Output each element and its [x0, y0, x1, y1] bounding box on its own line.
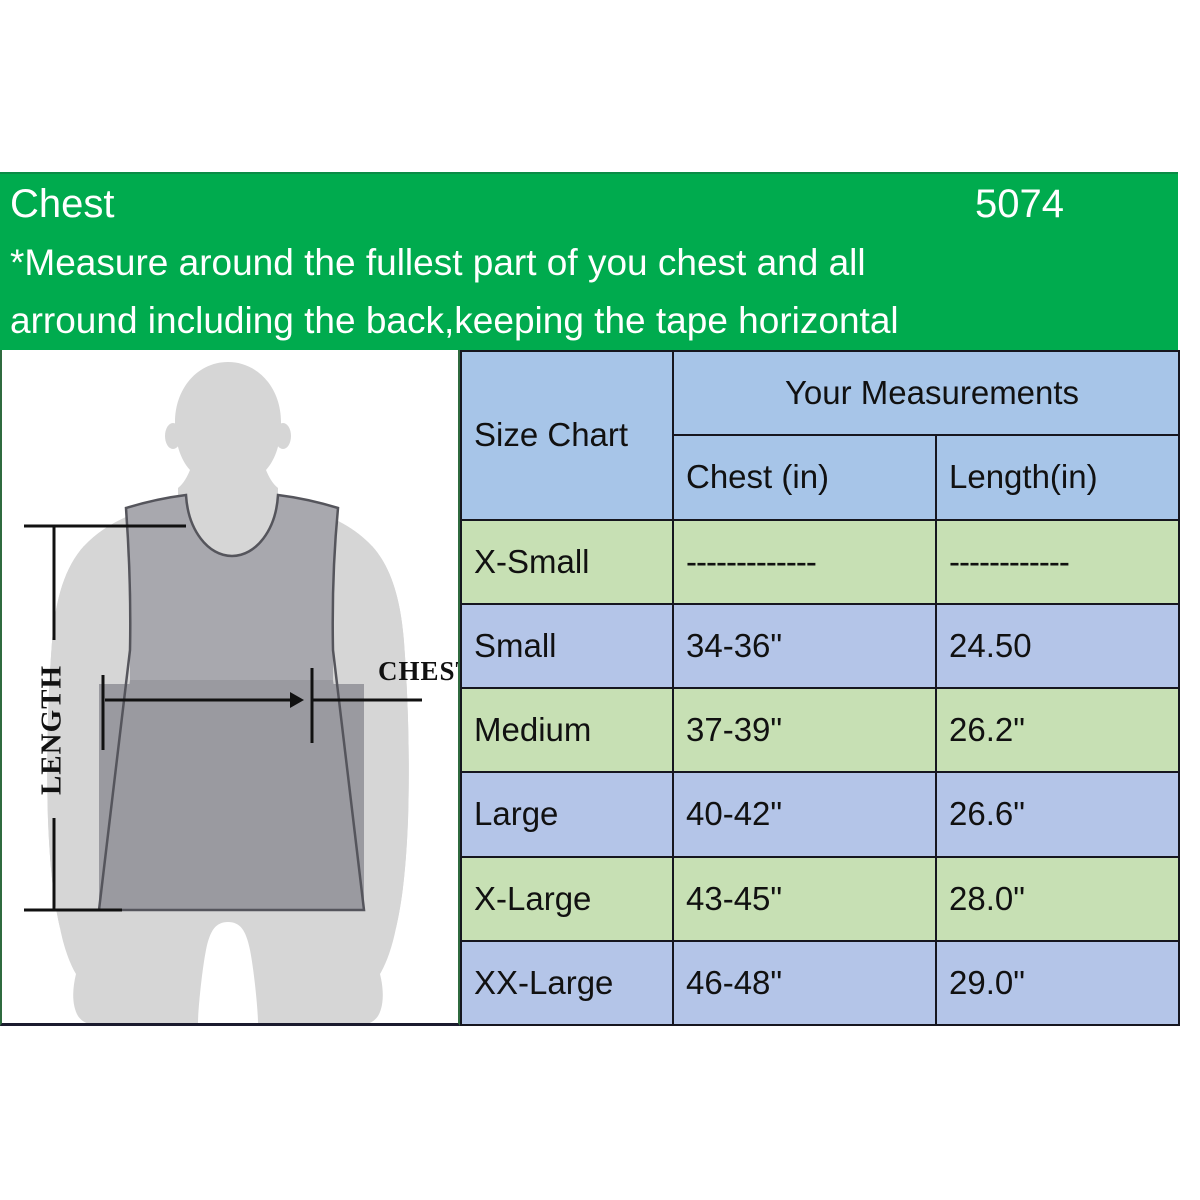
cell-size: X-Large	[461, 857, 673, 941]
table-row: Large 40-42" 26.6"	[461, 772, 1179, 856]
tank-top-garment-icon	[99, 495, 364, 910]
header-chest: Chest (in)	[673, 435, 936, 519]
cell-size: XX-Large	[461, 941, 673, 1025]
chest-label: CHEST	[378, 656, 458, 686]
header-length: Length(in)	[936, 435, 1179, 519]
cell-size: Large	[461, 772, 673, 856]
cell-length: ------------	[936, 520, 1179, 604]
cell-length: 26.2"	[936, 688, 1179, 772]
measure-instruction-line1: *Measure around the fullest part of you …	[10, 234, 1178, 292]
cell-size: Medium	[461, 688, 673, 772]
table-row: XX-Large 46-48" 29.0"	[461, 941, 1179, 1025]
page-title: Chest	[10, 178, 115, 230]
cell-chest: -------------	[673, 520, 936, 604]
header-your-measurements: Your Measurements	[673, 351, 1179, 435]
content-area: LENGTH CHEST Size Chart Your	[0, 350, 1178, 1026]
cell-chest: 43-45"	[673, 857, 936, 941]
cell-chest: 46-48"	[673, 941, 936, 1025]
measure-instruction-line2: arround including the back,keeping the t…	[10, 292, 1178, 350]
cell-chest: 37-39"	[673, 688, 936, 772]
cell-chest: 34-36"	[673, 604, 936, 688]
cell-length: 28.0"	[936, 857, 1179, 941]
length-label: LENGTH	[36, 665, 68, 795]
header-banner: Chest 5074 *Measure around the fullest p…	[0, 172, 1178, 350]
table-row: Small 34-36" 24.50	[461, 604, 1179, 688]
table-row: Medium 37-39" 26.2"	[461, 688, 1179, 772]
measurement-figure-panel: LENGTH CHEST	[0, 350, 460, 1026]
cell-chest: 40-42"	[673, 772, 936, 856]
body-figure-illustration: LENGTH CHEST	[2, 350, 458, 1023]
header-size-chart: Size Chart	[461, 351, 673, 520]
size-chart-table: Size Chart Your Measurements Chest (in) …	[460, 350, 1180, 1026]
table-row: X-Small ------------- ------------	[461, 520, 1179, 604]
cell-length: 24.50	[936, 604, 1179, 688]
size-chart-image: Chest 5074 *Measure around the fullest p…	[0, 0, 1200, 1200]
cell-size: Small	[461, 604, 673, 688]
cell-length: 29.0"	[936, 941, 1179, 1025]
table-row: X-Large 43-45" 28.0"	[461, 857, 1179, 941]
style-code: 5074	[975, 178, 1064, 230]
cell-size: X-Small	[461, 520, 673, 604]
cell-length: 26.6"	[936, 772, 1179, 856]
banner-title-row: Chest 5074	[10, 178, 1178, 234]
table-header-row-1: Size Chart Your Measurements	[461, 351, 1179, 435]
